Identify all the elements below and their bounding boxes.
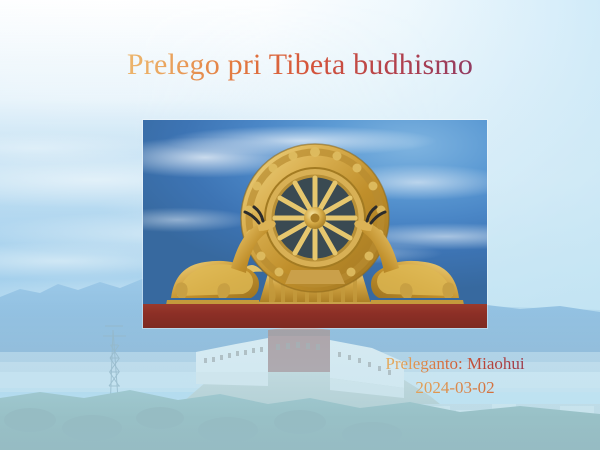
presenter-block: Preleganto: Miaohui 2024-03-02 [330,352,580,400]
presentation-slide: Prelego pri Tibeta budhismo Preleganto: … [0,0,600,450]
dharma-wheel-and-deer-icon [143,120,487,328]
presentation-date: 2024-03-02 [330,376,580,400]
dharma-wheel-image [143,120,487,328]
presenter-name: Preleganto: Miaohui [330,352,580,376]
inset-temple-roof-band [143,304,487,328]
slide-title: Prelego pri Tibeta budhismo [0,48,600,82]
